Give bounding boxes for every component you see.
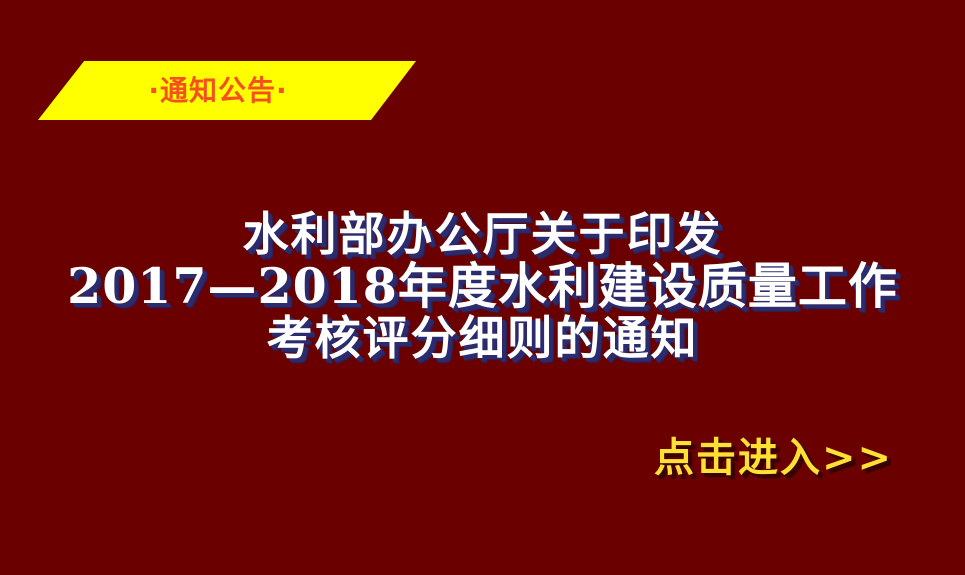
headline-line-1: 水利部办公厅关于印发 [0,208,965,260]
category-ribbon-label: ·通知公告· [38,61,416,120]
headline-line-2: 2017—2018年度水利建设质量工作 [0,260,965,312]
category-ribbon: ·通知公告· [38,61,416,120]
click-to-enter-link[interactable]: 点击进入>> [654,434,893,482]
announcement-headline: 水利部办公厅关于印发 2017—2018年度水利建设质量工作 考核评分细则的通知 [0,208,965,364]
promo-banner-page: ·通知公告· 水利部办公厅关于印发 2017—2018年度水利建设质量工作 考核… [0,0,965,575]
headline-line-3: 考核评分细则的通知 [0,312,965,364]
